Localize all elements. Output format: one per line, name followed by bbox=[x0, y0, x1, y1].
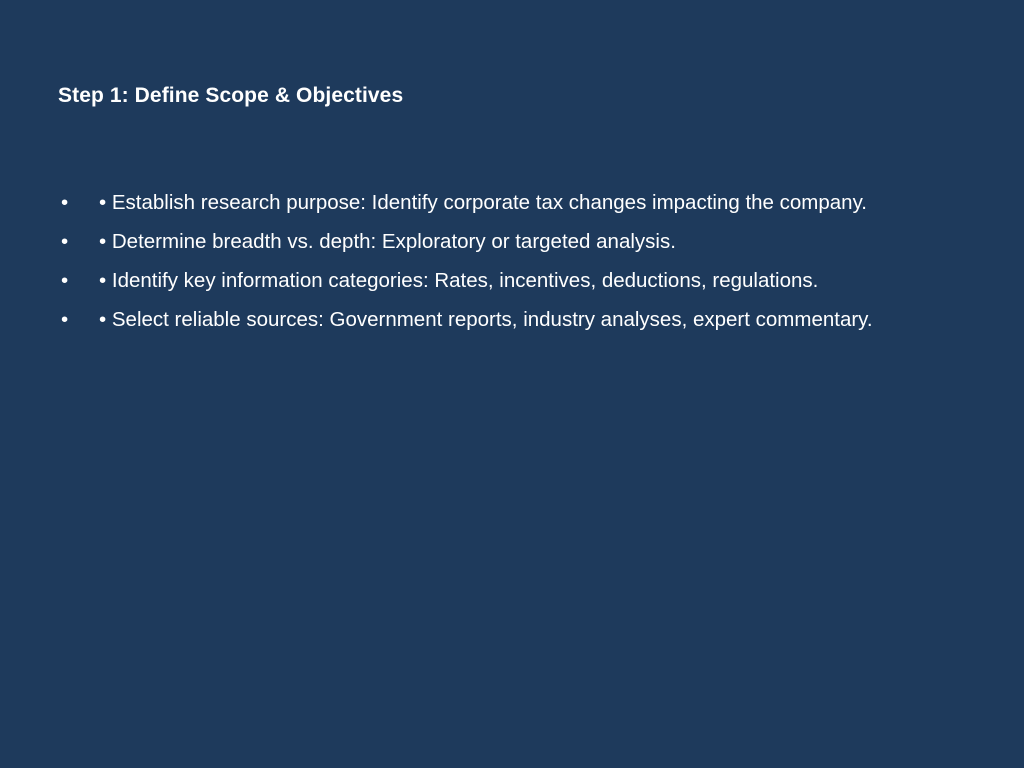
bullet-point-icon: • bbox=[61, 184, 75, 222]
list-item-text: • Establish research purpose: Identify c… bbox=[99, 184, 965, 222]
list-item-text: • Identify key information categories: R… bbox=[99, 262, 965, 300]
bullet-point-icon: • bbox=[61, 223, 75, 261]
list-item-text: • Determine breadth vs. depth: Explorato… bbox=[99, 223, 965, 261]
list-item: • • Determine breadth vs. depth: Explora… bbox=[58, 223, 978, 261]
bullet-list: • • Establish research purpose: Identify… bbox=[58, 184, 978, 340]
list-item: • • Identify key information categories:… bbox=[58, 262, 978, 300]
list-item: • • Select reliable sources: Government … bbox=[58, 301, 978, 339]
page-title: Step 1: Define Scope & Objectives bbox=[58, 82, 958, 109]
bullet-point-icon: • bbox=[61, 301, 75, 339]
list-item: • • Establish research purpose: Identify… bbox=[58, 184, 978, 222]
bullet-point-icon: • bbox=[61, 262, 75, 300]
slide-canvas: Step 1: Define Scope & Objectives • • Es… bbox=[0, 0, 1024, 768]
list-item-text: • Select reliable sources: Government re… bbox=[99, 301, 965, 339]
